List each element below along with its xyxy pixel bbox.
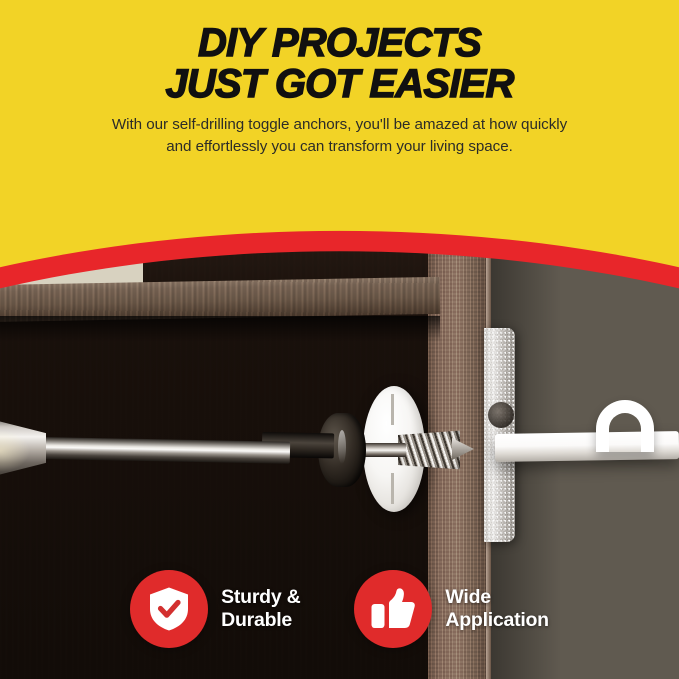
header-block: DIY PROJECTS JUST GOT EASIER With our se…	[0, 0, 679, 200]
badge-wide-application: Wide Application	[354, 570, 548, 648]
badge-icon-circle	[130, 570, 208, 648]
feature-badges: Sturdy & Durable Wide Application	[0, 561, 679, 657]
subheadline-line-1: With our self-drilling toggle anchors, y…	[112, 116, 567, 133]
page-title: DIY PROJECTS JUST GOT EASIER	[0, 24, 679, 103]
thumbs-up-icon	[370, 587, 416, 631]
headline-line-2: JUST GOT EASIER	[0, 65, 679, 103]
badge-icon-circle	[354, 570, 432, 648]
badge-label: Wide Application	[445, 586, 548, 632]
collar-highlight	[338, 430, 346, 464]
badge-label-line-2: Durable	[221, 609, 300, 632]
badge-label: Sturdy & Durable	[221, 586, 300, 632]
badge-label-line-1: Sturdy &	[221, 586, 300, 609]
threaded-anchor	[398, 428, 460, 472]
shield-check-icon	[148, 586, 190, 632]
bracket-fastener	[488, 402, 514, 428]
shelf-shadow	[0, 316, 440, 342]
badge-sturdy-durable: Sturdy & Durable	[130, 570, 300, 648]
subheadline-line-2: and effortlessly you can transform your …	[32, 136, 647, 158]
badge-label-line-1: Wide	[445, 586, 548, 609]
chuck-highlight	[0, 430, 30, 472]
badge-label-line-2: Application	[445, 609, 548, 632]
product-marketing-poster: DIY PROJECTS JUST GOT EASIER With our se…	[0, 0, 679, 679]
bracket-hook	[596, 400, 654, 452]
subheadline: With our self-drilling toggle anchors, y…	[32, 114, 647, 157]
headline-line-1: DIY PROJECTS	[198, 21, 481, 65]
